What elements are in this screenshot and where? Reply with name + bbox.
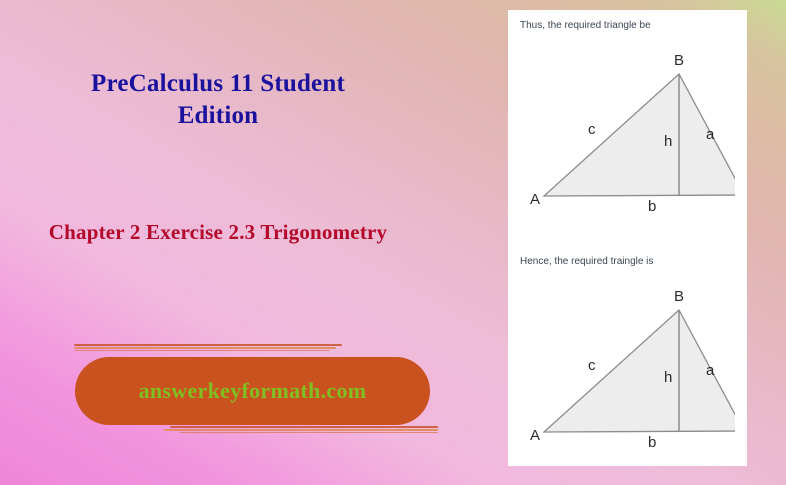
banner-rule-line — [180, 432, 438, 433]
course-title: PreCalculus 11 Student Edition — [48, 68, 388, 132]
banner-bottom-rules — [162, 426, 438, 436]
side-label-h: h — [664, 369, 672, 386]
side-label-b: b — [648, 434, 656, 451]
triangle-diagram-2: A B C c a b h — [520, 282, 735, 472]
side-label-c: c — [588, 357, 596, 374]
banner-top-rules — [74, 344, 344, 353]
banner-rule-line — [74, 347, 336, 349]
side-label-h: h — [664, 133, 672, 150]
slide-canvas: PreCalculus 11 Student Edition Chapter 2… — [0, 0, 786, 485]
vertex-label-b: B — [674, 288, 684, 305]
figure-block-1: Thus, the required triangle be A B C c a… — [508, 10, 747, 250]
chapter-title: Chapter 2 Exercise 2.3 Trigonometry — [48, 219, 388, 247]
title-pane: PreCalculus 11 Student Edition Chapter 2… — [0, 0, 470, 485]
vertex-label-b: B — [674, 52, 684, 69]
worksheet-card: Thus, the required triangle be A B C c a… — [508, 10, 747, 466]
figure-block-2: Hence, the required traingle is A B C c … — [508, 250, 747, 466]
vertex-label-a: A — [530, 191, 540, 208]
side-label-b: b — [648, 198, 656, 215]
banner-rule-line — [74, 344, 342, 346]
triangle-diagram-1: A B C c a b h — [520, 46, 735, 236]
banner-rule-line — [170, 426, 438, 428]
figure-caption-2: Hence, the required traingle is — [520, 256, 653, 267]
banner-rule-line — [164, 429, 438, 431]
figure-caption-1: Thus, the required triangle be — [520, 20, 651, 31]
site-banner[interactable]: answerkeyformath.com — [66, 344, 438, 440]
side-label-a: a — [706, 126, 715, 143]
vertex-label-a: A — [530, 427, 540, 444]
banner-shape: answerkeyformath.com — [75, 357, 430, 425]
side-label-c: c — [588, 121, 596, 138]
side-label-a: a — [706, 362, 715, 379]
banner-rule-line — [74, 350, 330, 351]
site-name-label: answerkeyformath.com — [75, 357, 430, 425]
